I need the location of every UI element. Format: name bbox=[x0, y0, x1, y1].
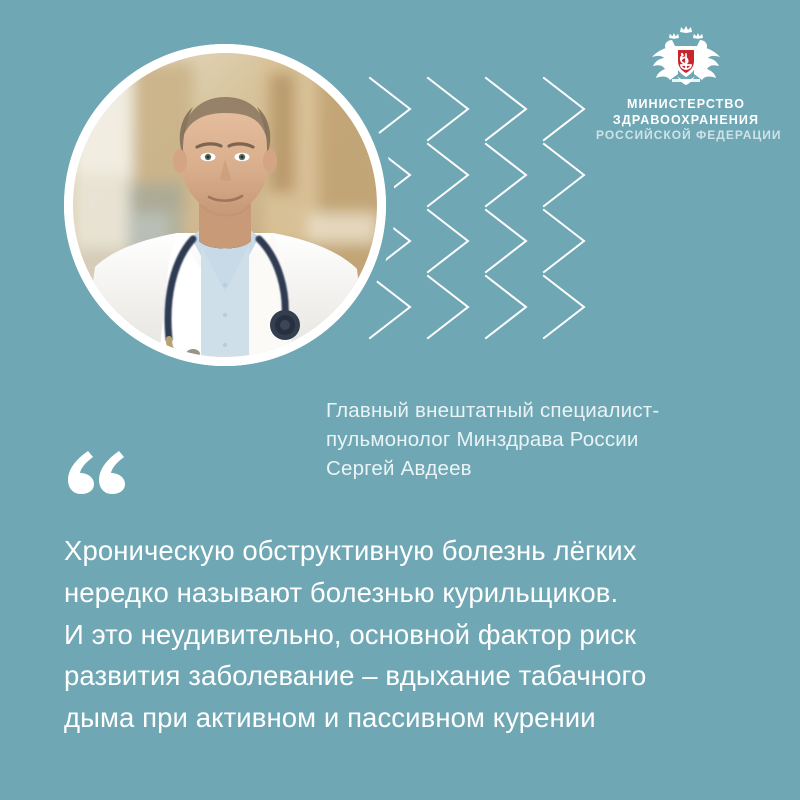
chevron-column-3 bbox=[486, 78, 526, 338]
chevron-column-4 bbox=[544, 78, 584, 338]
russian-double-headed-eagle-emblem bbox=[650, 24, 722, 90]
doctor-portrait bbox=[64, 44, 386, 366]
quote-line-5: дыма при активном и пассивном курении bbox=[64, 697, 764, 739]
portrait-ring bbox=[64, 44, 386, 366]
logo-line-1: МИНИСТЕРСТВО bbox=[596, 96, 776, 112]
attribution-line-3: Сергей Авдеев bbox=[326, 454, 756, 483]
logo-line-3: РОССИЙСКОЙ ФЕДЕРАЦИИ bbox=[596, 128, 776, 143]
quote-line-3: И это неудивительно, основной фактор рис… bbox=[64, 614, 764, 656]
quote-line-1: Хроническую обструктивную болезнь лёгких bbox=[64, 530, 764, 572]
chevron-column-2 bbox=[428, 78, 468, 338]
attribution-line-1: Главный внештатный специалист- bbox=[326, 396, 756, 425]
quotation-mark-icon bbox=[68, 448, 130, 498]
attribution: Главный внештатный специалист- пульмонол… bbox=[326, 396, 756, 483]
quote-line-4: развития заболевание – вдыхание табачног… bbox=[64, 655, 764, 697]
attribution-line-2: пульмонолог Минздрава России bbox=[326, 425, 756, 454]
quote-card: МИНИСТЕРСТВО ЗДРАВООХРАНЕНИЯ РОССИЙСКОЙ … bbox=[0, 0, 800, 800]
logo-line-2: ЗДРАВООХРАНЕНИЯ bbox=[596, 112, 776, 128]
ministry-logo: МИНИСТЕРСТВО ЗДРАВООХРАНЕНИЯ РОССИЙСКОЙ … bbox=[596, 24, 776, 143]
quote-text: Хроническую обструктивную болезнь лёгких… bbox=[64, 530, 764, 739]
quote-line-2: нередко называют болезнью курильщиков. bbox=[64, 572, 764, 614]
